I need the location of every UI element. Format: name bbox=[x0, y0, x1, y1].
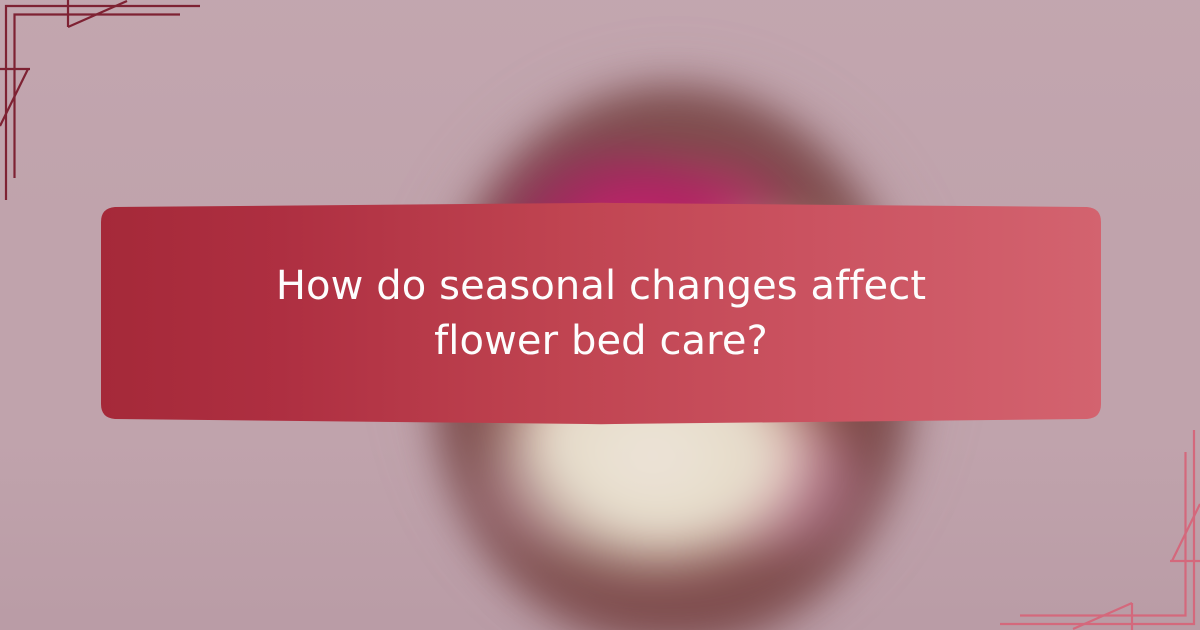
page-title: How do seasonal changes affect flower be… bbox=[229, 259, 974, 369]
banner-text-block: How do seasonal changes affect flower be… bbox=[101, 198, 1101, 430]
title-banner: How do seasonal changes affect flower be… bbox=[101, 198, 1101, 430]
question-card-canvas: How do seasonal changes affect flower be… bbox=[0, 0, 1200, 630]
